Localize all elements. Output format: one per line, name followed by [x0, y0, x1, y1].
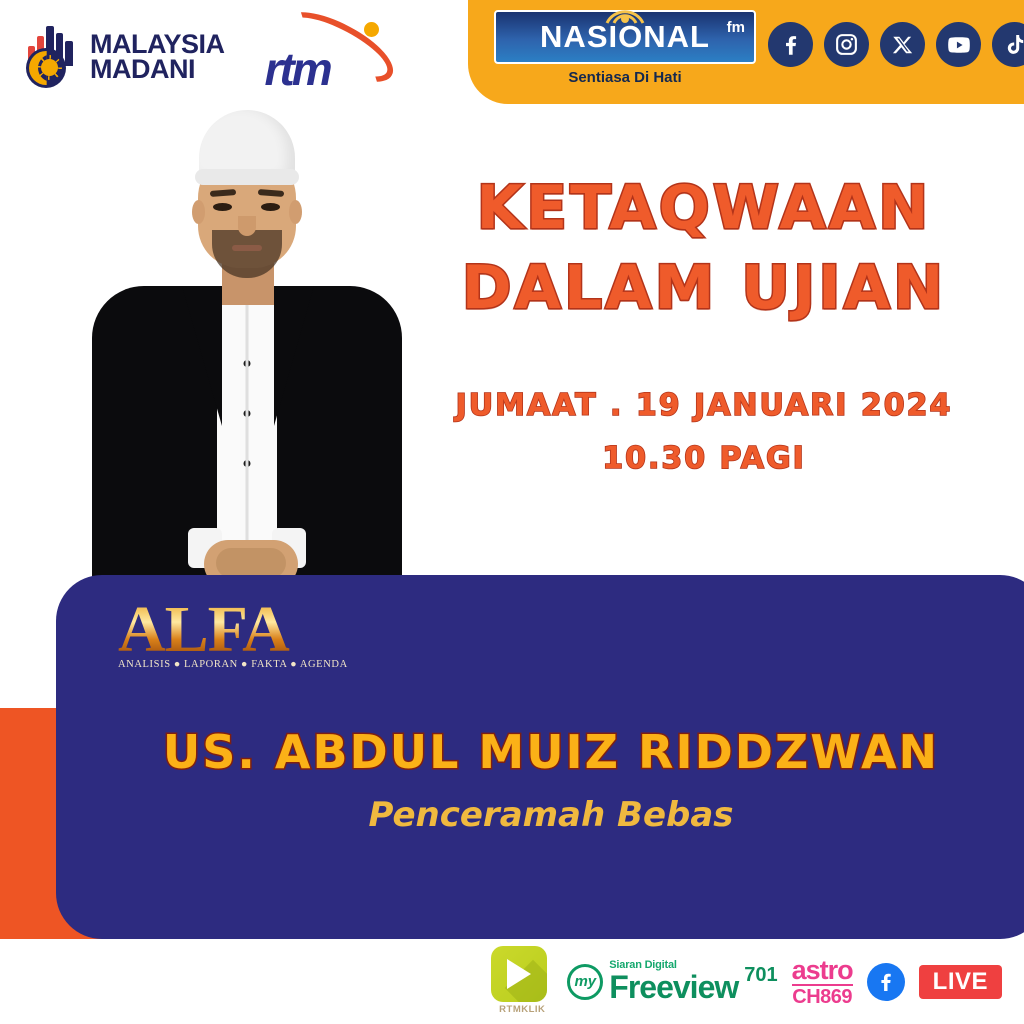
- alfa-tagline: ANALISIS ● LAPORAN ● FAKTA ● AGENDA: [118, 659, 348, 670]
- alfa-logo: ALFA ANALISIS ● LAPORAN ● FAKTA ● AGENDA: [118, 597, 348, 681]
- astro-channel: CH869: [792, 984, 853, 1007]
- facebook-icon[interactable]: [867, 963, 905, 1001]
- live-badge: LIVE: [919, 965, 1002, 999]
- social-links: [768, 22, 1024, 67]
- fm-suffix: fm: [727, 19, 745, 36]
- brand-logos: MALAYSIA MADANI rtm: [24, 14, 474, 100]
- rtm-wordmark: rtm: [265, 42, 330, 96]
- speaker-portrait: [86, 104, 406, 594]
- malaysia-madani-logo: MALAYSIA MADANI: [24, 26, 225, 88]
- tiktok-icon[interactable]: [992, 22, 1024, 67]
- facebook-icon[interactable]: [768, 22, 813, 67]
- radio-wave-icon: [601, 0, 649, 25]
- rtm-dot-icon: [364, 22, 379, 37]
- rtmklik-logo[interactable]: RTMKLIK: [491, 946, 553, 1018]
- malaysia-madani-line2: MADANI: [90, 57, 225, 82]
- title-line-1: KETAQWAAN: [404, 168, 1004, 248]
- rtmklik-play-icon: [507, 959, 531, 989]
- event-time: 10.30 PAGI: [404, 433, 1004, 486]
- rtm-logo: rtm: [259, 20, 409, 94]
- x-icon[interactable]: [880, 22, 925, 67]
- freeview-wordmark: Freeview: [609, 971, 738, 1003]
- youtube-icon[interactable]: [936, 22, 981, 67]
- my-badge-icon: my: [567, 964, 603, 1000]
- station-tagline: Sentiasa Di Hati: [568, 69, 681, 86]
- speaker-role: Penceramah Bebas: [56, 795, 1024, 835]
- station-banner: NASIONAL fm Sentiasa Di Hati: [468, 0, 1024, 104]
- malaysia-madani-icon: [24, 26, 80, 88]
- rtmklik-label: RTMKLIK: [491, 1004, 553, 1015]
- astro-wordmark: astro: [792, 957, 853, 984]
- speaker-name: US. ABDUL MUIZ RIDDZWAN: [56, 725, 1024, 779]
- alfa-wordmark: ALFA: [118, 597, 348, 663]
- poster-canvas: MALAYSIA MADANI rtm NASIONAL fm Sentiasa…: [0, 0, 1024, 1024]
- event-schedule: JUMAAT . 19 JANUARI 2024 10.30 PAGI: [404, 380, 1004, 485]
- instagram-icon[interactable]: [824, 22, 869, 67]
- freeview-channel: 701: [744, 964, 777, 987]
- myfreeview-logo: my Siaran Digital Freeview 701: [567, 960, 777, 1003]
- footer-bar: RTMKLIK my Siaran Digital Freeview 701 a…: [0, 939, 1024, 1024]
- title-line-2: DALAM UJIAN: [404, 248, 1004, 328]
- astro-logo: astro CH869: [792, 957, 853, 1007]
- event-date: JUMAAT . 19 JANUARI 2024: [404, 380, 1004, 433]
- nasional-fm-logo: NASIONAL fm Sentiasa Di Hati: [494, 10, 756, 94]
- event-title: KETAQWAAN DALAM UJIAN: [404, 168, 1004, 329]
